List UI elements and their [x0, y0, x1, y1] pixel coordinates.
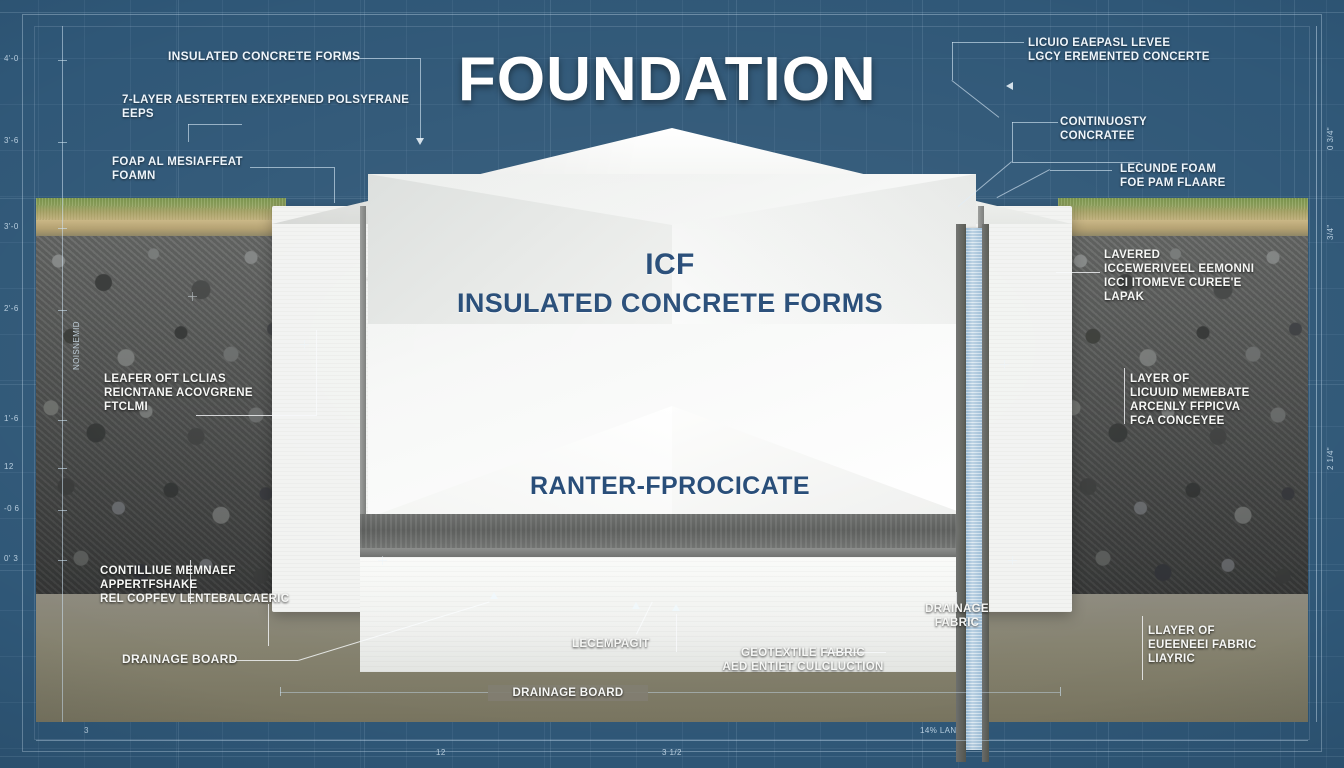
annotation-drainage-board-left: DRAINAGE BOARD: [122, 652, 238, 667]
icf-structure: [272, 128, 1072, 612]
annotation-eps-line1: 7-LAYER AESTERTEN EXEXPENED POLSYFRANE: [122, 93, 409, 107]
annotation-efl-l1: LLAYER OF: [1148, 624, 1257, 638]
annotation-lmc-line1: LICUIO EAEPASL LEVEE: [1028, 36, 1210, 50]
annotation-expanded-polystyrene: 7-LAYER AESTERTEN EXEXPENED POLSYFRANE E…: [122, 93, 409, 121]
cross-mark-1: [300, 340, 309, 349]
dim-label-b2: 12: [436, 748, 446, 757]
leader-lmc-arrow: [1006, 82, 1013, 90]
dim-label-l2: 3'-6: [4, 136, 19, 145]
leader-lcf-h: [196, 415, 316, 416]
leader-db-arrow: [490, 592, 498, 599]
leader-lmc-h: [952, 42, 1024, 43]
annotation-drainage-fabric: DRAINAGE FABRIC: [902, 602, 1012, 630]
annotation-engineered-fabric-layer: LLAYER OF EUEENEEI FABRIC LIAYRIC: [1148, 624, 1257, 666]
annotation-lmc2-line4: FCA CONCEYEE: [1130, 414, 1250, 428]
leader-efl-v: [1142, 616, 1143, 680]
cavity-seam-left: [360, 206, 366, 518]
dim-tick-l8: [58, 560, 67, 561]
dimension-ruler-bottom: [36, 740, 1308, 741]
annotation-compacted-fill: LECEMPAGIT: [572, 637, 650, 651]
dim-label-l6: 12: [4, 462, 14, 471]
leader-df-v: [956, 592, 957, 608]
annotation-eps-line2: EEPS: [122, 107, 409, 121]
blueprint-diagram: FOUNDATION ICF INSULATED CONCRETE FORMS …: [0, 0, 1344, 768]
annotation-gf-line2: AED ENTIET CULCLUCTION: [688, 660, 918, 674]
grass-layer-right: [1058, 198, 1308, 220]
annotation-df-line1: DRAINAGE: [902, 602, 1012, 616]
dim-label-l8: 0' 3: [4, 554, 18, 563]
dim-label-r3: 2 1/4": [1326, 447, 1335, 470]
annotation-lmc-line2: LGCY EREMENTED CONCERTE: [1028, 50, 1210, 64]
dim-tick-l7: [58, 510, 67, 511]
leader-cf-arrow: [632, 602, 640, 609]
annotation-lcl-line1: LAVERED: [1104, 248, 1254, 262]
leader-eps-v: [188, 124, 189, 142]
membrane-outer-edge: [982, 224, 989, 762]
dim-label-l5: 1'-6: [4, 414, 19, 423]
drainage-membrane: [966, 228, 982, 750]
leader-db-h: [232, 660, 298, 661]
annotation-lcf-line2: REICNTANE ACOVGRENE: [104, 386, 253, 400]
leader-sfl-h: [1050, 170, 1112, 171]
annotation-lcf-line1: LEAFER OFT LCLIAS: [104, 372, 253, 386]
annotation-lmc2-line2: LICUUID MEMEBATE: [1130, 386, 1250, 400]
dim-label-r1: 0 3/4": [1326, 127, 1335, 150]
subsoil-layer-left: [36, 220, 286, 236]
leader-cm-v: [190, 560, 191, 604]
dim-label-l1: 4'-0: [4, 54, 19, 63]
leader-foam-h: [250, 167, 334, 168]
annotation-cm-line2: APPERTFSHAKE: [100, 578, 289, 592]
dim-tick-l2: [58, 142, 67, 143]
primary-label-insulated-concrete-forms: INSULATED CONCRETE FORMS: [430, 288, 910, 319]
leader-cc-v: [1012, 122, 1013, 162]
annotation-insulated-concrete-forms: INSULATED CONCRETE FORMS: [168, 49, 360, 64]
leader-gf-arrow: [672, 604, 680, 611]
leader-icf-arrow: [416, 138, 424, 145]
cavity-floor-left: [368, 406, 672, 518]
annotation-cm-line1: CONTILLIUE MEMNAEF: [100, 564, 289, 578]
annotation-lcf-line3: FTCLMI: [104, 400, 253, 414]
cross-mark-2: [378, 556, 387, 565]
leader-cc-h: [1012, 122, 1058, 123]
annotation-lcl-line2: ICCEWERIVEEL EEMONNI: [1104, 262, 1254, 276]
dim-tick-l4: [58, 310, 67, 311]
dim-tick-l5: [58, 420, 67, 421]
concrete-core-band: [360, 514, 984, 548]
concrete-core-band-lower: [360, 548, 984, 557]
annotation-cm-line3: REL COPFEV LENTEBALCAERIC: [100, 592, 289, 606]
annotation-foam-treatment: FOAP AL MESIAFFEAT FOAMN: [112, 155, 243, 183]
annotation-efl-l3: LIAYRIC: [1148, 652, 1257, 666]
icf-interior-cavity: [368, 174, 976, 518]
annotation-df-line2: FABRIC: [902, 616, 1012, 630]
dim-label-b4: 14% LAN: [920, 726, 957, 735]
annotation-sfl-line2: FOE PAM FLAARE: [1120, 176, 1226, 190]
leader-eps-h: [188, 124, 242, 125]
dimension-line-drainage-board: [280, 692, 1060, 693]
subsoil-layer-right: [1058, 220, 1308, 236]
dimension-tick-right: [1060, 687, 1061, 696]
membrane-backing: [956, 224, 966, 762]
dim-tick-l1: [58, 60, 67, 61]
dimension-tick-left: [280, 687, 281, 696]
annotation-liquid-membrane-concrete: LICUIO EAEPASL LEVEE LGCY EREMENTED CONC…: [1028, 36, 1210, 64]
annotation-foam-line2: FOAMN: [112, 169, 243, 183]
leader-lmc2-v: [1124, 368, 1125, 424]
annotation-sfl-line1: LECUNDE FOAM: [1120, 162, 1226, 176]
primary-label-icf: ICF: [540, 248, 800, 282]
annotation-liquid-membrane-concrete-2: LAYER OF LICUUID MEMEBATE ARCENLY FFPICV…: [1130, 372, 1250, 428]
leader-foam-v: [334, 167, 335, 203]
annotation-continuity-concrete: CONTINUOSTY CONCRATEE: [1060, 115, 1147, 143]
leader-gf-v: [676, 614, 677, 652]
annotation-continuous-membrane: CONTILLIUE MEMNAEF APPERTFSHAKE REL COPF…: [100, 564, 289, 606]
cross-mark-3: [1000, 360, 1009, 369]
dim-label-b1: 3: [84, 726, 89, 735]
annotation-cc-line2: CONCRATEE: [1060, 129, 1147, 143]
leader-lcl-h: [1056, 272, 1100, 273]
dim-label-b3: 3 1/2: [662, 748, 682, 757]
leader-lmc-v: [952, 42, 953, 80]
annotation-layered-concrete-foam: LEAFER OFT LCLIAS REICNTANE ACOVGRENE FT…: [104, 372, 253, 414]
dim-label-r2: 3/4": [1326, 224, 1335, 240]
annotation-lmc2-line3: ARCENLY FFPICVA: [1130, 400, 1250, 414]
secondary-label-ranter-fprocicate: RANTER-FPROCICATE: [450, 472, 890, 501]
annotation-lcl-line4: LAPAK: [1104, 290, 1254, 304]
annotation-gf-line1: GEOTEXTILE FABRIC: [688, 646, 918, 660]
annotation-geotextile-fabric: GEOTEXTILE FABRIC AED ENTIET CULCLUCTION: [688, 646, 918, 674]
annotation-cc-line1: CONTINUOSTY: [1060, 115, 1147, 129]
dim-label-left-vertical: NOISNEMID: [72, 321, 81, 370]
cross-mark-5: [188, 292, 197, 301]
dim-label-l4: 2'-6: [4, 304, 19, 313]
cross-mark-4: [1008, 556, 1017, 565]
leader-icf-v: [420, 58, 421, 140]
annotation-drainage-board-dimension: DRAINAGE BOARD: [488, 685, 648, 701]
annotation-secondary-foam-layer: LECUNDE FOAM FOE PAM FLAARE: [1120, 162, 1226, 190]
grass-layer-left: [36, 198, 286, 220]
leader-gf-h: [826, 652, 886, 653]
dimension-ruler-left: [62, 26, 63, 722]
leader-icf-h: [348, 58, 420, 59]
leader-lcf-v: [316, 330, 317, 416]
annotation-efl-l2: EUEENEEI FABRIC: [1148, 638, 1257, 652]
dim-tick-l3: [58, 228, 67, 229]
annotation-foam-line1: FOAP AL MESIAFFEAT: [112, 155, 243, 169]
cavity-floor-right: [672, 406, 976, 518]
dim-label-l3: 3'-0: [4, 222, 19, 231]
annotation-lcl-line3: ICCI ITOMEVE CUREE'E: [1104, 276, 1254, 290]
leader-cm-v2: [268, 604, 269, 646]
annotation-layered-concrete-lapak: LAVERED ICCEWERIVEEL EEMONNI ICCI ITOMEV…: [1104, 248, 1254, 304]
annotation-lmc2-line1: LAYER OF: [1130, 372, 1250, 386]
dim-label-l7: -0 6: [4, 504, 19, 513]
page-title: FOUNDATION: [458, 44, 877, 115]
dim-tick-l6: [58, 468, 67, 469]
dimension-ruler-right: [1316, 26, 1317, 722]
